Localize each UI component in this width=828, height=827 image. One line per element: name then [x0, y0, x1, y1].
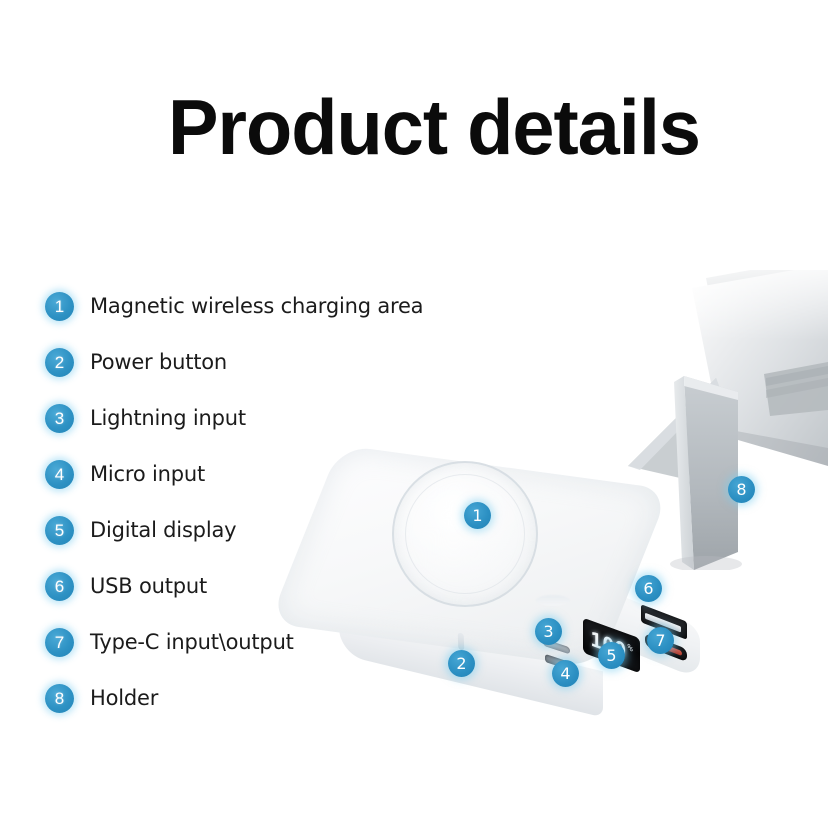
legend-badge-2: 2 — [45, 348, 74, 377]
callout-badge-2: 2 — [448, 650, 475, 677]
callout-badge-1: 1 — [464, 502, 491, 529]
callout-badge-7: 7 — [647, 627, 674, 654]
callout-badge-5: 5 — [598, 642, 625, 669]
power-button[interactable] — [458, 632, 465, 650]
legend-badge-1: 1 — [45, 292, 74, 321]
callout-badge-8: 8 — [728, 476, 755, 503]
legend-label-3: Lightning input — [90, 406, 246, 430]
top-logo-dimple — [536, 595, 570, 606]
legend-badge-4: 4 — [45, 460, 74, 489]
legend-label-4: Micro input — [90, 462, 205, 486]
legend-badge-5: 5 — [45, 516, 74, 545]
legend-badge-6: 6 — [45, 572, 74, 601]
magsafe-ring — [392, 461, 538, 607]
legend-label-6: USB output — [90, 574, 207, 598]
legend-badge-7: 7 — [45, 628, 74, 657]
legend-label-2: Power button — [90, 350, 227, 374]
legend-label-8: Holder — [90, 686, 158, 710]
product-photo: 100 % 1 2 3 4 5 6 7 8 — [330, 270, 828, 710]
power-bank-body: 100 % — [340, 445, 700, 660]
legend-badge-8: 8 — [45, 684, 74, 713]
page-title: Product details — [168, 88, 700, 168]
callout-badge-3: 3 — [535, 618, 562, 645]
legend-label-7: Type-C input\output — [90, 630, 294, 654]
legend-label-5: Digital display — [90, 518, 236, 542]
product-details-page: Product details 1 Magnetic wireless char… — [0, 0, 828, 827]
display-unit: % — [627, 643, 632, 655]
callout-badge-6: 6 — [635, 575, 662, 602]
callout-badge-4: 4 — [552, 660, 579, 687]
legend-badge-3: 3 — [45, 404, 74, 433]
